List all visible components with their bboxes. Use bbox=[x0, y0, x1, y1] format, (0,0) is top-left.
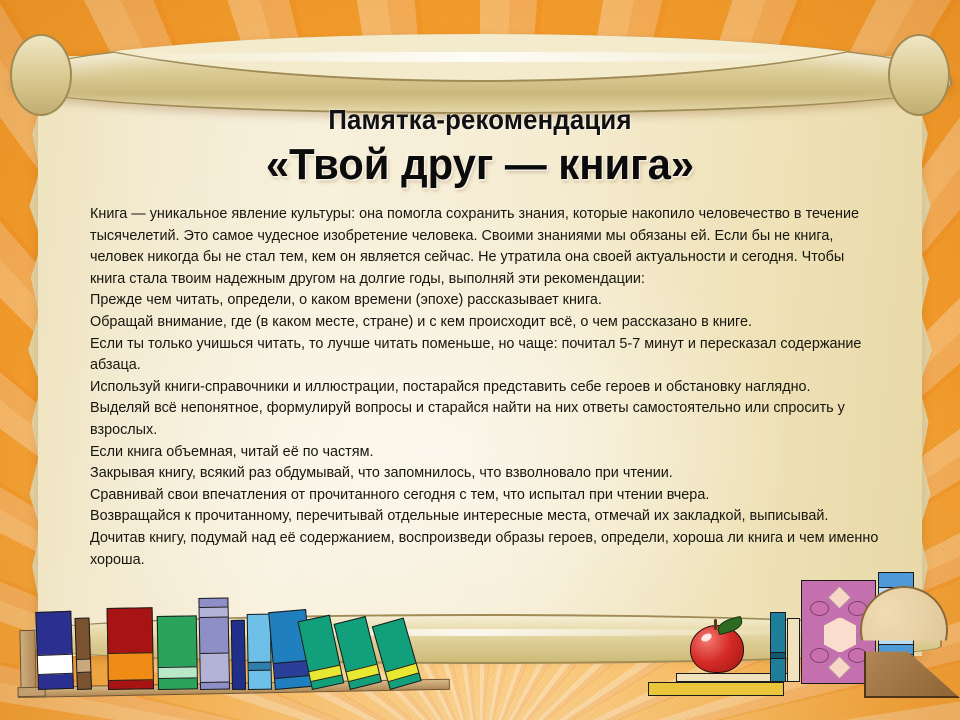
book-band bbox=[77, 659, 90, 673]
apple bbox=[690, 625, 744, 673]
book-violet bbox=[198, 597, 230, 690]
page-title: «Твой друг — книга» bbox=[24, 140, 936, 190]
scroll-roll-top-curve bbox=[12, 34, 948, 110]
heading-block: Памятка-рекомендация «Твой друг — книга» bbox=[0, 104, 960, 190]
book-band bbox=[108, 652, 152, 681]
book-band bbox=[346, 664, 379, 682]
book-band bbox=[38, 654, 73, 675]
recommendation-item: Выделяй всё непонятное, формулируй вопро… bbox=[90, 398, 880, 441]
book-hexagon-ornament bbox=[823, 617, 857, 653]
recommendation-item: Прежде чем читать, определи, о каком вре… bbox=[90, 290, 880, 312]
recommendation-item: Обращай внимание, где (в каком месте, ст… bbox=[90, 312, 880, 334]
book-band bbox=[771, 652, 785, 659]
book-navy-thin bbox=[231, 620, 246, 690]
kicker-text: Памятка-рекомендация bbox=[38, 104, 921, 136]
book-oval-ornament-tl bbox=[810, 601, 829, 616]
book-cream-slim bbox=[787, 618, 800, 682]
stacked-book-lower bbox=[648, 682, 784, 696]
recommendation-item: Возвращайся к прочитанному, перечитывай … bbox=[90, 506, 880, 528]
intro-paragraph: Книга — уникальное явление культуры: она… bbox=[90, 204, 880, 290]
book-oval-ornament-bl bbox=[810, 648, 829, 663]
book-rhombus-ornament-bottom bbox=[827, 655, 851, 679]
recommendation-item: Если книга объемная, читай её по частям. bbox=[90, 442, 880, 464]
book-navy bbox=[35, 611, 74, 690]
book-band bbox=[200, 607, 228, 618]
scroll-roll-top-highlight bbox=[90, 52, 850, 62]
body-text: Книга — уникальное явление культуры: она… bbox=[90, 204, 880, 571]
book-teal-slim bbox=[770, 612, 786, 682]
bookshelf-decoration bbox=[0, 590, 960, 720]
recommendation-item: Закрывая книгу, всякий раз обдумывай, чт… bbox=[90, 463, 880, 485]
book-band bbox=[309, 665, 342, 682]
recommendation-item: Сравнивай свои впечатления от прочитанно… bbox=[90, 485, 880, 507]
recommendation-item: Дочитав книгу, подумай над её содержание… bbox=[90, 528, 880, 571]
book-green bbox=[157, 615, 198, 690]
poster-root: Памятка-рекомендация «Твой друг — книга»… bbox=[0, 0, 960, 720]
book-band bbox=[386, 663, 419, 682]
recommendation-item: Используй книги-справочники и иллюстраци… bbox=[90, 377, 880, 399]
bookend-left bbox=[19, 630, 36, 692]
book-band bbox=[249, 662, 271, 671]
book-band bbox=[159, 666, 197, 679]
book-darkred bbox=[107, 607, 154, 690]
recommendation-item: Если ты только учишься читать, то лучше … bbox=[90, 334, 880, 377]
book-brown bbox=[74, 618, 92, 690]
book-band bbox=[200, 652, 229, 682]
book-lightblue bbox=[247, 614, 272, 690]
